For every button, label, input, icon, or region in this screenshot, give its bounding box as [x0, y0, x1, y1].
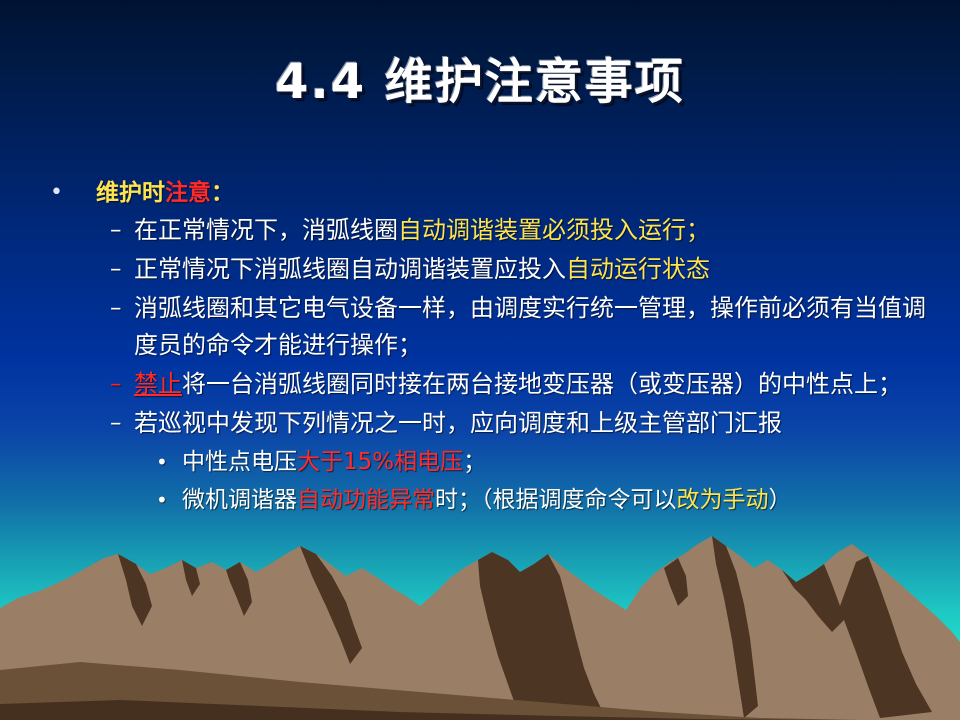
text-segment-emphasis: 改为手动 — [677, 487, 769, 513]
text-segment: 在正常情况下，消弧线圈 — [134, 216, 398, 244]
text-segment: 将一台消弧线圈同时接在两台接地变压器（或变压器）的中性点上； — [182, 370, 902, 398]
dash-marker-icon: – — [110, 405, 134, 442]
bullet-marker-icon: • — [156, 444, 182, 480]
bullet-level1: • 维护时注意： — [44, 178, 940, 208]
slide-body: • 维护时注意： – 在正常情况下，消弧线圈自动调谐装置必须投入运行； – 正常… — [44, 178, 940, 520]
text-segment: ； — [686, 216, 710, 244]
text-segment-emphasis: 大于15%相电压 — [297, 449, 463, 475]
bullet-level2-text: 若巡视中发现下列情况之一时，应向调度和上级主管部门汇报 — [134, 405, 940, 442]
text-segment-emphasis: 自动功能异常 — [297, 487, 435, 513]
bullet-level2-text: 禁止将一台消弧线圈同时接在两台接地变压器（或变压器）的中性点上； — [134, 366, 940, 403]
text-segment: ） — [769, 487, 792, 513]
bullet-level2-item: – 消弧线圈和其它电气设备一样，由调度实行统一管理，操作前必须有当值调度员的命令… — [44, 290, 940, 364]
bullet-level1-text: 维护时注意： — [96, 178, 234, 208]
text-segment: 若巡视中发现下列情况之一时，应向调度和上级主管部门汇报 — [134, 409, 782, 437]
bullet-level2-text: 消弧线圈和其它电气设备一样，由调度实行统一管理，操作前必须有当值调度员的命令才能… — [134, 290, 940, 364]
bullet-marker-icon: • — [44, 178, 96, 208]
bullet-level3-item: • 中性点电压大于15%相电压； — [44, 444, 940, 480]
bullet-level3-text: 微机调谐器自动功能异常时；（根据调度命令可以改为手动） — [182, 482, 940, 518]
text-segment: 消弧线圈和其它电气设备一样，由调度实行统一管理，操作前必须有当值调度员的命令才能… — [134, 294, 926, 359]
text-segment: ： — [211, 180, 234, 206]
text-segment: 正常情况下消弧线圈自动调谐装置应投入 — [134, 255, 566, 283]
bullet-marker-icon: • — [156, 482, 182, 518]
mountain-scenery-graphic — [0, 520, 960, 720]
bullet-level2-item: – 若巡视中发现下列情况之一时，应向调度和上级主管部门汇报 — [44, 405, 940, 442]
bullet-level3-item: • 微机调谐器自动功能异常时；（根据调度命令可以改为手动） — [44, 482, 940, 518]
text-segment: 维护时 — [96, 180, 165, 206]
text-segment-emphasis: 自动调谐装置必须投入运行 — [398, 216, 686, 244]
text-segment: 时；（根据调度命令可以 — [435, 487, 677, 513]
dash-marker-icon: – — [110, 212, 134, 249]
bullet-level2-text: 正常情况下消弧线圈自动调谐装置应投入自动运行状态 — [134, 251, 940, 288]
dash-marker-icon: – — [110, 290, 134, 327]
presentation-slide: 4.4 维护注意事项 • 维护时注意： – 在正常情况下，消弧线圈自动调谐装置必… — [0, 0, 960, 720]
text-segment-emphasis: 自动运行状态 — [566, 255, 710, 283]
text-segment: 中性点电压 — [182, 449, 297, 475]
text-segment-prohibition: 禁止 — [134, 370, 182, 398]
page-title: 4.4 维护注意事项 — [275, 42, 685, 112]
text-segment: 微机调谐器 — [182, 487, 297, 513]
dash-marker-icon: – — [110, 366, 134, 403]
bullet-level2-item: – 正常情况下消弧线圈自动调谐装置应投入自动运行状态 — [44, 251, 940, 288]
bullet-level2-item: – 禁止将一台消弧线圈同时接在两台接地变压器（或变压器）的中性点上； — [44, 366, 940, 403]
text-segment-emphasis: 注意 — [165, 180, 211, 206]
text-segment: ； — [463, 449, 486, 475]
bullet-level3-text: 中性点电压大于15%相电压； — [182, 444, 940, 480]
slide-title-block: 4.4 维护注意事项 — [0, 42, 960, 112]
bullet-level2-item: – 在正常情况下，消弧线圈自动调谐装置必须投入运行； — [44, 212, 940, 249]
dash-marker-icon: – — [110, 251, 134, 288]
bullet-level2-text: 在正常情况下，消弧线圈自动调谐装置必须投入运行； — [134, 212, 940, 249]
